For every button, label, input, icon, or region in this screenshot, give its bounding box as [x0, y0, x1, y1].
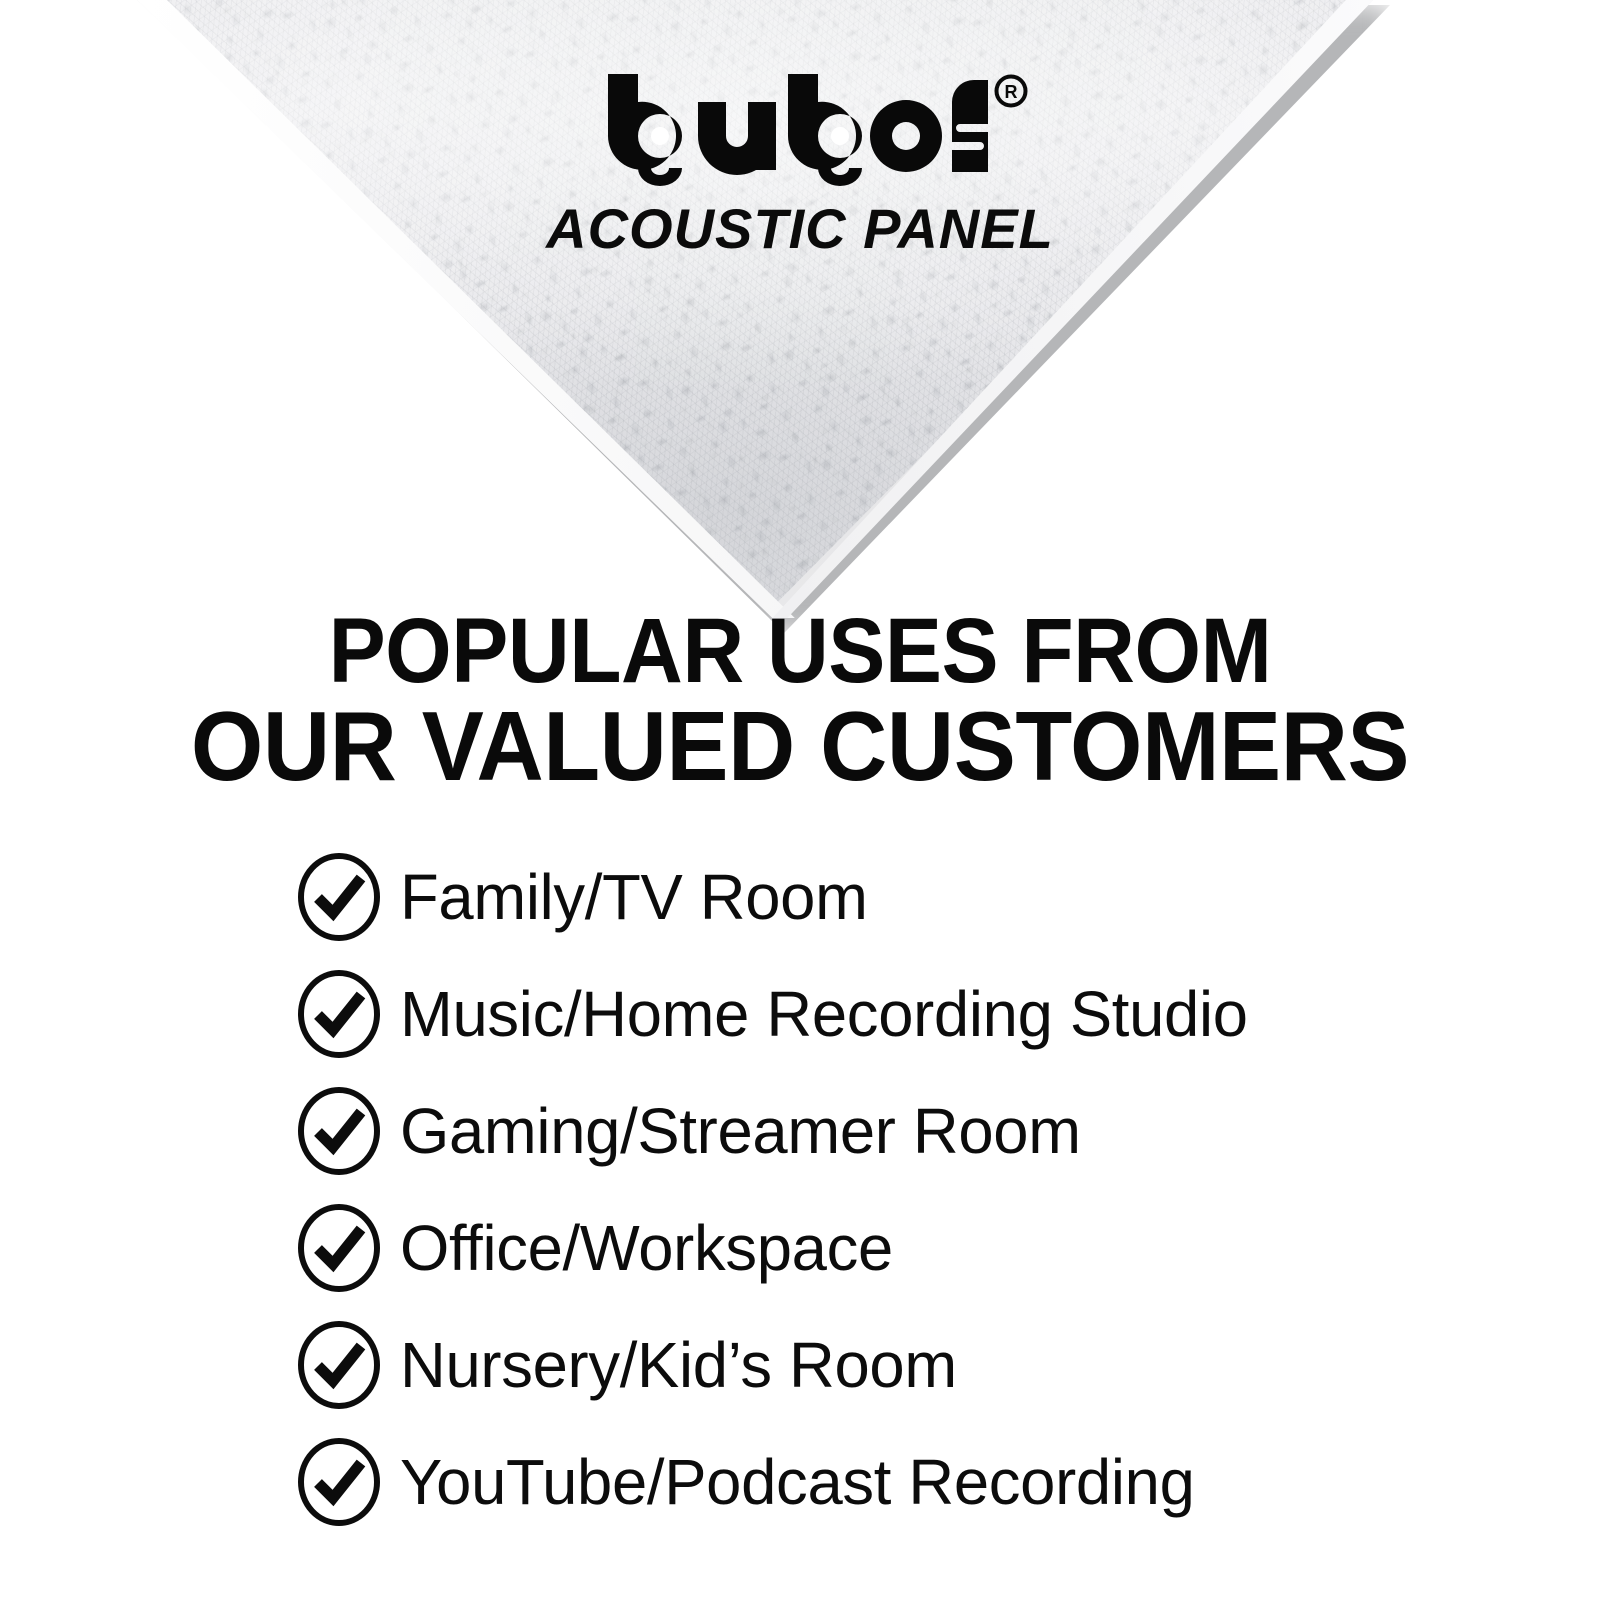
page-title: POPULAR USES FROM OUR VALUED CUSTOMERS: [0, 607, 1600, 793]
list-item-label: Music/Home Recording Studio: [400, 982, 1248, 1046]
list-item: Music/Home Recording Studio: [296, 955, 1476, 1072]
check-circle-icon: [296, 852, 382, 942]
list-item: Family/TV Room: [296, 838, 1476, 955]
list-item-label: Nursery/Kid’s Room: [400, 1333, 957, 1397]
list-item-label: Family/TV Room: [400, 865, 868, 929]
check-circle-icon: [296, 969, 382, 1059]
list-item: Office/Workspace: [296, 1189, 1476, 1306]
brand-logo-block: R ACOUSTIC PANEL: [0, 72, 1600, 257]
headline-line-2: OUR VALUED CUSTOMERS: [40, 699, 1560, 793]
product-infographic: R ACOUSTIC PANEL POPULAR USES FROM OUR V…: [0, 0, 1600, 1600]
list-item-label: Office/Workspace: [400, 1216, 893, 1280]
list-item: YouTube/Podcast Recording: [296, 1423, 1476, 1540]
svg-text:R: R: [1005, 82, 1018, 102]
check-circle-icon: [296, 1203, 382, 1293]
bubos-logo-icon: [600, 72, 1000, 190]
logo-wordmark: R: [600, 72, 1000, 190]
list-item-label: Gaming/Streamer Room: [400, 1099, 1081, 1163]
brand-tagline: ACOUSTIC PANEL: [0, 201, 1600, 257]
check-circle-icon: [296, 1437, 382, 1527]
popular-uses-list: Family/TV Room Music/Home Recording Stud…: [296, 838, 1476, 1540]
list-item-label: YouTube/Podcast Recording: [400, 1450, 1195, 1514]
registered-trademark-icon: R: [994, 74, 1028, 108]
check-circle-icon: [296, 1320, 382, 1410]
list-item: Nursery/Kid’s Room: [296, 1306, 1476, 1423]
headline-line-1: POPULAR USES FROM: [56, 607, 1544, 695]
check-circle-icon: [296, 1086, 382, 1176]
list-item: Gaming/Streamer Room: [296, 1072, 1476, 1189]
